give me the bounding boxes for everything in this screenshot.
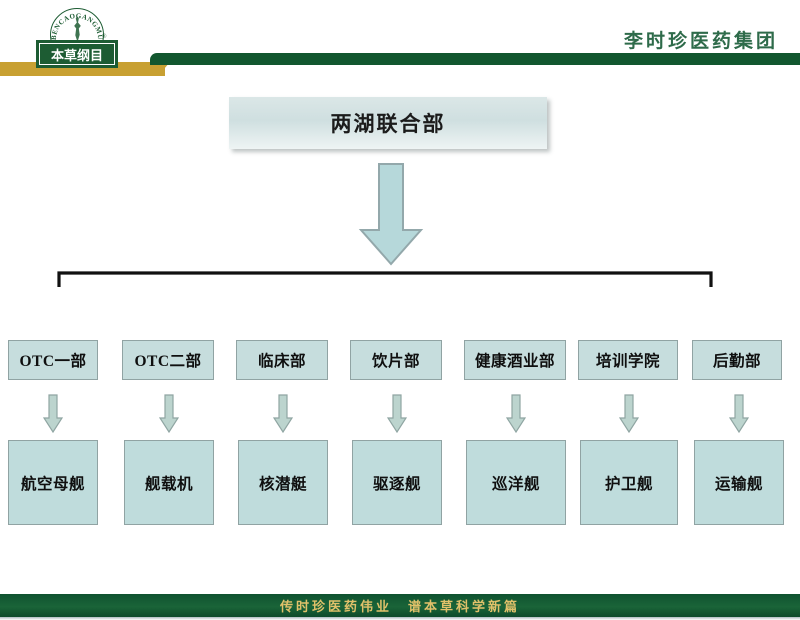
connector-down-arrow-icon <box>619 394 639 434</box>
connector-down-arrow-icon <box>43 394 63 434</box>
unit-node-label: 核潜艇 <box>259 472 307 494</box>
page-footer: 传时珍医药伟业 谱本草科学新篇 <box>0 594 800 617</box>
org-root-node[interactable]: 两湖联合部 <box>229 97 547 149</box>
branch-bracket <box>50 268 720 290</box>
department-node-label: 后勤部 <box>713 349 761 371</box>
department-node[interactable]: 健康酒业部 <box>464 340 566 380</box>
connector-down-arrow-icon <box>506 394 526 434</box>
unit-node-label: 舰载机 <box>145 472 193 494</box>
unit-node-label: 护卫舰 <box>605 472 653 494</box>
unit-node-label: 驱逐舰 <box>373 472 421 494</box>
unit-node[interactable]: 巡洋舰 <box>466 440 566 525</box>
unit-node[interactable]: 舰载机 <box>124 440 214 525</box>
department-node[interactable]: OTC一部 <box>8 340 98 380</box>
department-node-label: 临床部 <box>258 349 306 371</box>
unit-node-label: 航空母舰 <box>21 472 85 494</box>
unit-node-label: 巡洋舰 <box>492 472 540 494</box>
connector-down-arrow-icon <box>387 394 407 434</box>
unit-node[interactable]: 运输舰 <box>694 440 784 525</box>
department-node-label: 饮片部 <box>372 349 420 371</box>
org-chart: 两湖联合部 OTC一部OTC二部临床部饮片部健康酒业部培训学院后勤部航空母舰舰载… <box>0 0 800 620</box>
connector-down-arrow-icon <box>729 394 749 434</box>
department-node[interactable]: OTC二部 <box>122 340 214 380</box>
department-node-label: OTC二部 <box>134 349 201 371</box>
org-root-node-label: 两湖联合部 <box>331 108 446 138</box>
department-node[interactable]: 临床部 <box>236 340 328 380</box>
unit-node[interactable]: 核潜艇 <box>238 440 328 525</box>
department-node-label: 培训学院 <box>596 349 660 371</box>
department-node-label: OTC一部 <box>19 349 86 371</box>
unit-node[interactable]: 护卫舰 <box>580 440 678 525</box>
connector-down-arrow-icon <box>159 394 179 434</box>
department-node[interactable]: 后勤部 <box>692 340 782 380</box>
department-node[interactable]: 饮片部 <box>350 340 442 380</box>
unit-node[interactable]: 航空母舰 <box>8 440 98 525</box>
footer-slogan: 传时珍医药伟业 谱本草科学新篇 <box>280 596 520 615</box>
department-node-label: 健康酒业部 <box>475 349 555 371</box>
department-node[interactable]: 培训学院 <box>578 340 678 380</box>
unit-node[interactable]: 驱逐舰 <box>352 440 442 525</box>
connector-down-arrow-icon <box>273 394 293 434</box>
unit-node-label: 运输舰 <box>715 472 763 494</box>
down-arrow-icon <box>358 162 424 267</box>
